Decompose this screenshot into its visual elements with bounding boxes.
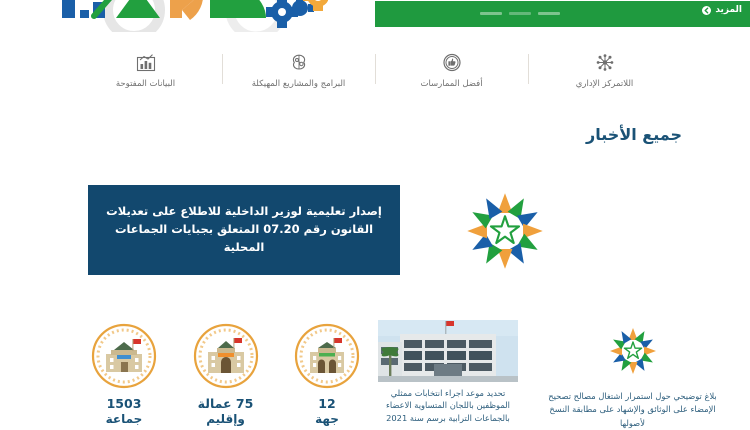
nav-item-label: أفضل الممارسات [420,79,482,89]
stat-card[interactable]: 12 جهة [281,322,373,430]
administration-building-photo [378,320,518,382]
nav-item-programs[interactable]: البرامج والمشاريع المهيكلة [223,52,375,89]
nav-item-label: اللاتمركز الإداري [576,79,634,89]
bar-chart-icon [136,52,156,72]
moroccan-star-emblem-icon [458,190,552,272]
moroccan-star-emblem-icon [605,326,661,376]
stat-label: وإقليم [206,412,245,427]
nav-item-open-data[interactable]: البيانات المفتوحة [70,52,222,89]
green-banner: المزيد [375,1,750,27]
stat-number: 1503 [107,396,142,412]
network-nodes-icon [595,52,615,72]
carousel-indicators[interactable] [480,12,560,15]
nav-item-label: البرامج والمشاريع المهيكلة [252,79,346,89]
news-card[interactable]: تحديد موعد اجراء انتخابات ممثلي الموظفين… [378,320,518,424]
commune-building-icon [90,322,158,390]
more-link-green[interactable]: المزيد [702,5,742,15]
stat-card[interactable]: 75 عمالة وإقليم [180,322,272,430]
quicklinks-nav: البيانات المفتوحة البرامج والمشاريع المه… [0,52,750,104]
page-root: المزيد المزيد [0,0,750,430]
carousel-dash[interactable] [538,12,560,15]
region-building-icon [293,322,361,390]
nav-item-label: البيانات المفتوحة [116,79,175,89]
page-title: جميع الأخبار [586,125,682,144]
stat-number: 75 عمالة [198,396,254,412]
stat-label: جماعة [106,412,143,427]
prefecture-building-icon [192,322,260,390]
stat-label: جهة [315,412,339,427]
thumbs-up-badge-icon [442,52,462,72]
more-link-green-label: المزيد [715,5,742,15]
brain-gears-icon [289,52,309,72]
featured-news-card[interactable]: إصدار تعليمية لوزير الداخلية للاطلاع على… [88,185,400,275]
notice-card-text: بلاغ توضيحي حول استمرار اشتغال مصالح تصح… [545,390,720,430]
infographic-charts-gears-graphic [60,0,328,32]
stat-card[interactable]: 1503 جماعة [78,322,170,430]
featured-news-headline: إصدار تعليمية لوزير الداخلية للاطلاع على… [88,203,400,256]
carousel-dash[interactable] [480,12,502,15]
stat-number: 12 [318,396,335,412]
news-card-caption: تحديد موعد اجراء انتخابات ممثلي الموظفين… [378,387,518,424]
statistics-row: 1503 جماعة [78,322,373,430]
nav-item-best-practices[interactable]: أفضل الممارسات [376,52,528,89]
circle-back-arrow-icon [702,6,711,15]
nav-item-deconcentration[interactable]: اللاتمركز الإداري [529,52,681,89]
carousel-dash[interactable] [509,12,531,15]
notice-card[interactable]: بلاغ توضيحي حول استمرار اشتغال مصالح تصح… [545,326,720,430]
